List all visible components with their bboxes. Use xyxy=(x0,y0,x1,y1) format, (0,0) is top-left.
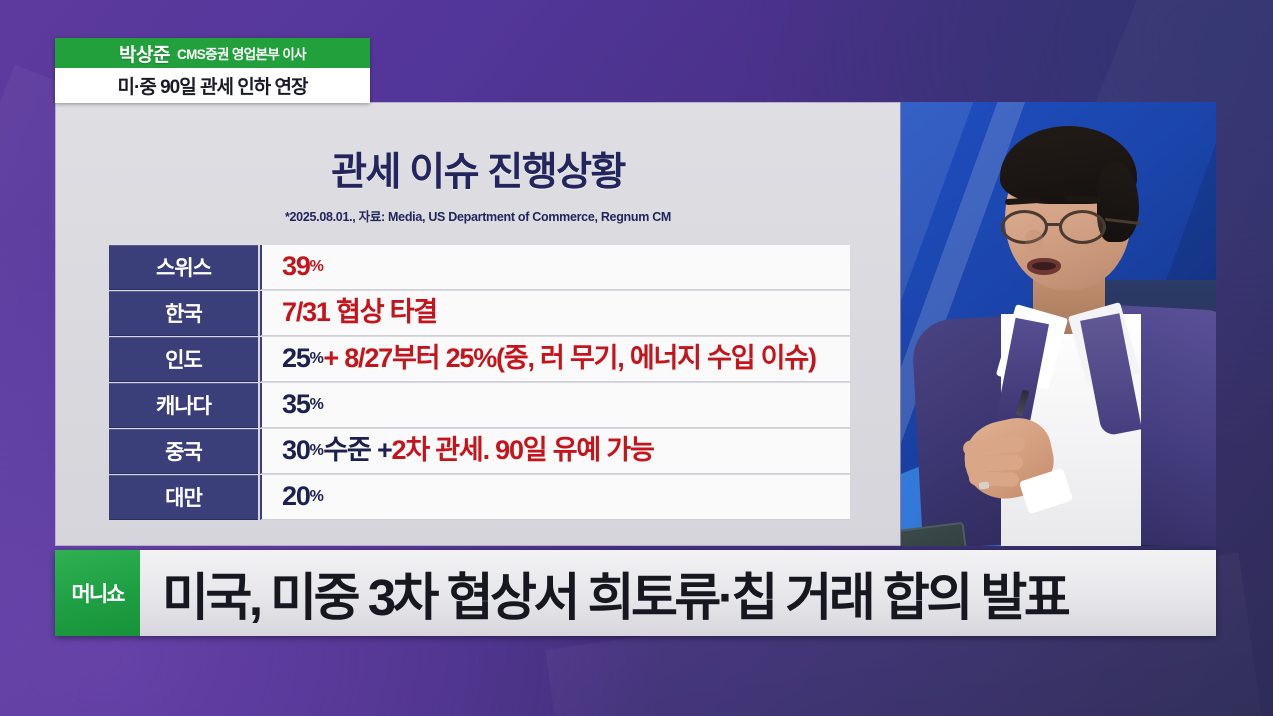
news-headline: 미국, 미중 3차 협상서 희토류·칩 거래 합의 발표 xyxy=(162,556,1067,630)
tariff-value-cell: 35% xyxy=(260,383,850,428)
lens-right xyxy=(1059,210,1106,244)
news-ticker: 머니쇼 미국, 미중 3차 협상서 희토류·칩 거래 합의 발표 xyxy=(55,550,1216,636)
source-note: *2025.08.01., 자료: Media, US Department o… xyxy=(56,206,900,225)
table-row: 캐나다35% xyxy=(109,383,850,428)
studio-video-feed xyxy=(900,102,1216,546)
country-label: 한국 xyxy=(109,291,258,336)
broadcaster-logo: 머니쇼 xyxy=(55,550,140,636)
tariff-value-segment: 39 xyxy=(282,253,310,280)
tariff-value-segment: 수준 + xyxy=(323,437,391,464)
country-label: 대만 xyxy=(109,475,258,520)
guest-person xyxy=(901,102,1216,546)
broadcaster-logo-text: 머니쇼 xyxy=(72,578,124,608)
tariff-value-segment: % xyxy=(310,397,324,413)
country-label: 캐나다 xyxy=(109,383,258,428)
table-row: 한국7/31 협상 타결 xyxy=(109,291,850,336)
finger-ring xyxy=(979,481,990,489)
country-label: 스위스 xyxy=(109,245,258,290)
tariff-value-segment: 7/31 협상 타결 xyxy=(282,299,437,326)
nose xyxy=(1025,230,1043,256)
table-row: 중국30% 수준 + 2차 관세. 90일 유예 가능 xyxy=(109,429,850,474)
mouth-inner xyxy=(1032,262,1056,270)
tariff-value-segment: 25 xyxy=(282,345,310,372)
tariff-table: 스위스39%한국7/31 협상 타결인도25% + 8/27부터 25%(중, … xyxy=(109,245,850,520)
eyeglasses xyxy=(1001,210,1129,244)
speaker-name-banner: 박상준 CMS증권 영업본부 이사 미·중 90일 관세 인하 연장 xyxy=(55,38,370,103)
tariff-value-cell: 25% + 8/27부터 25%(중, 러 무기, 에너지 수입 이슈) xyxy=(260,337,850,382)
news-ticker-body: 미국, 미중 3차 협상서 희토류·칩 거래 합의 발표 xyxy=(140,550,1216,636)
tariff-value-segment: 35 xyxy=(282,391,310,418)
country-label: 중국 xyxy=(109,429,258,474)
tariff-value-cell: 39% xyxy=(260,245,850,290)
tariff-value-segment: % xyxy=(310,351,324,367)
table-row: 대만20% xyxy=(109,475,850,520)
finger-3 xyxy=(969,471,1019,487)
tariff-value-segment: 2차 관세. 90일 유예 가능 xyxy=(392,437,654,464)
speaker-topic-bar: 미·중 90일 관세 인하 연장 xyxy=(55,68,370,103)
tariff-value-segment: 30 xyxy=(282,437,310,464)
tariff-value-segment: % xyxy=(310,489,324,505)
speaker-role: CMS증권 영업본부 이사 xyxy=(177,43,306,64)
tariff-value-segment: 20 xyxy=(282,483,310,510)
glasses-bridge xyxy=(1047,223,1061,226)
tariff-value-segment: % xyxy=(310,443,324,459)
table-row: 스위스39% xyxy=(109,245,850,290)
tariff-value-cell: 30% 수준 + 2차 관세. 90일 유예 가능 xyxy=(260,429,850,474)
tariff-value-segment: + 8/27부터 25%(중, 러 무기, 에너지 수입 이슈) xyxy=(323,345,815,372)
speaker-identity-bar: 박상준 CMS증권 영업본부 이사 xyxy=(55,38,370,68)
tariff-value-cell: 20% xyxy=(260,475,850,520)
speaker-topic: 미·중 90일 관세 인하 연장 xyxy=(118,72,308,99)
tariff-value-segment: % xyxy=(310,259,324,275)
page-title: 관세 이슈 진행상황 xyxy=(56,141,900,197)
table-row: 인도25% + 8/27부터 25%(중, 러 무기, 에너지 수입 이슈) xyxy=(109,337,850,382)
speaker-name: 박상준 xyxy=(119,40,170,67)
country-label: 인도 xyxy=(109,337,258,382)
finger-2 xyxy=(965,454,1024,472)
graphic-panel: 관세 이슈 진행상황 *2025.08.01., 자료: Media, US D… xyxy=(55,102,901,546)
tariff-value-cell: 7/31 협상 타결 xyxy=(260,291,850,336)
